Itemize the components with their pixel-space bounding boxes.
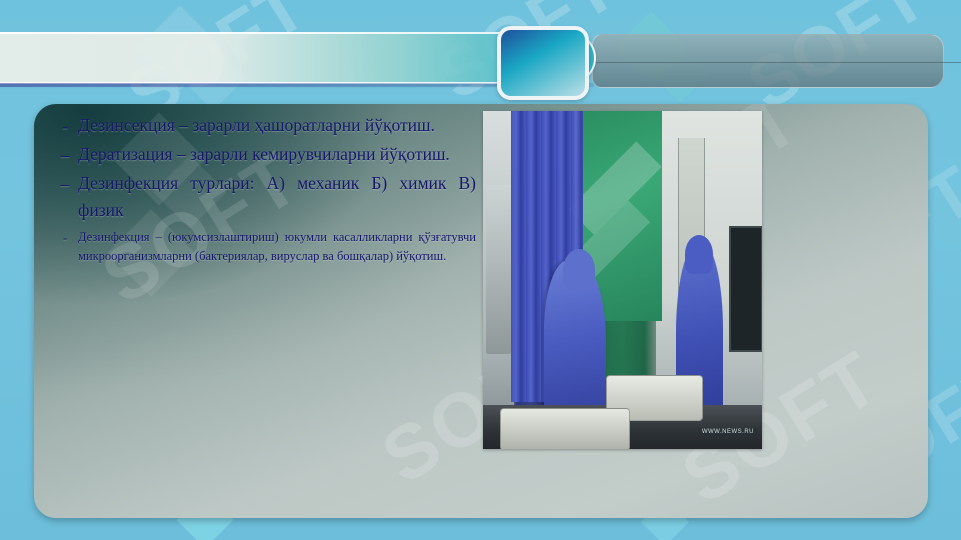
list-item-text: Дератизация – зарарли кемирувчиларни йўқ… [78,141,476,169]
list-item: – Дератизация – зарарли кемирувчиларни й… [52,141,476,169]
presentation-slide: SOFT SOFT SOFT SOFT SOFT SOFT SOFT SOFT … [0,0,961,540]
list-item-text: Дезинсекция – зарарли ҳашоратларни йўқот… [78,112,476,140]
slide-photo: WWW.NEWS.RU [483,111,762,449]
list-item: – Дезинфекция турлари: А) механик Б) хим… [52,170,476,224]
bullet-marker: - [52,112,78,140]
list-item: - Дезинфекция – (юкумсизлаштириш) юкумли… [52,228,476,268]
list-item: - Дезинсекция – зарарли ҳашоратларни йўқ… [52,112,476,140]
photo-watermark: WWW.NEWS.RU [699,428,757,436]
bullet-marker: – [52,170,78,224]
list-item-text: Дезинфекция – (юкумсизлаштириш) юкумли к… [78,228,476,268]
bullet-marker: – [52,141,78,169]
photo-hospital-bed [500,408,630,449]
photo-scene [483,111,762,449]
bullet-marker: - [52,228,78,268]
photo-wall-monitor [729,226,762,352]
photo-medical-equipment [486,185,511,354]
header-badge-icon [497,26,589,100]
bullet-list: - Дезинсекция – зарарли ҳашоратларни йўқ… [52,112,476,267]
content-panel: SOFT SOFT SOFT SOFT - Дезинсекция – зара… [34,104,928,518]
header-banner-right [592,34,944,88]
list-item-text: Дезинфекция турлари: А) механик Б) химик… [78,170,476,224]
header-divider-rule [590,62,961,63]
